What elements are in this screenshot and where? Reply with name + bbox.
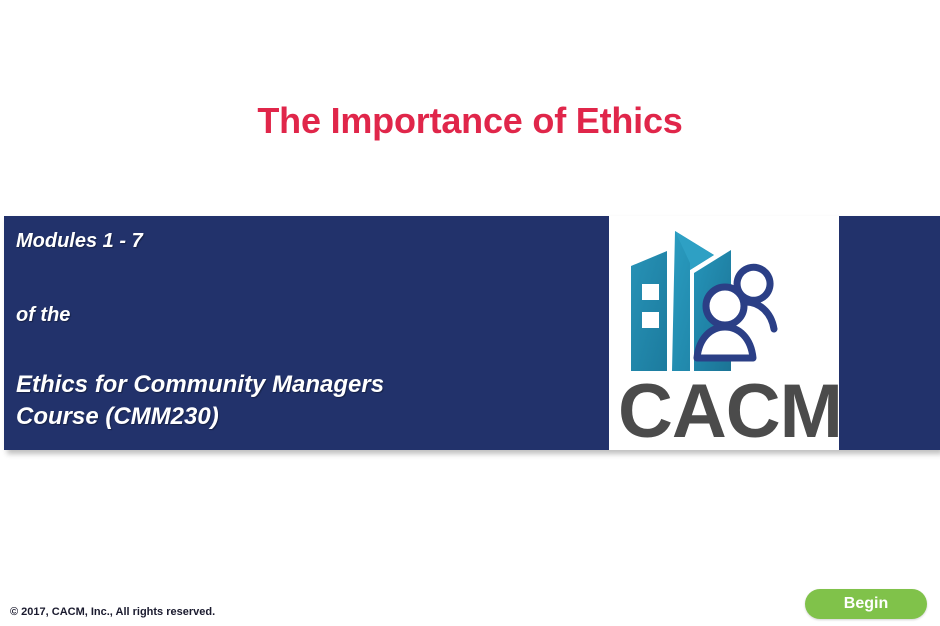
begin-button[interactable]: Begin <box>805 589 927 619</box>
cacm-wordmark: CACM <box>609 374 839 450</box>
slide-canvas: The Importance of Ethics Modules 1 - 7 o… <box>0 0 940 626</box>
copyright-notice: © 2017, CACM, Inc., All rights reserved. <box>10 606 215 618</box>
logo-panel: CACM <box>609 216 839 450</box>
banner-of-the-label: of the <box>16 304 70 327</box>
page-title: The Importance of Ethics <box>0 100 940 142</box>
banner-course-title: Ethics for Community Managers Course (CM… <box>16 369 446 433</box>
cacm-logo-icon <box>609 218 839 388</box>
banner-modules-label: Modules 1 - 7 <box>16 230 143 253</box>
